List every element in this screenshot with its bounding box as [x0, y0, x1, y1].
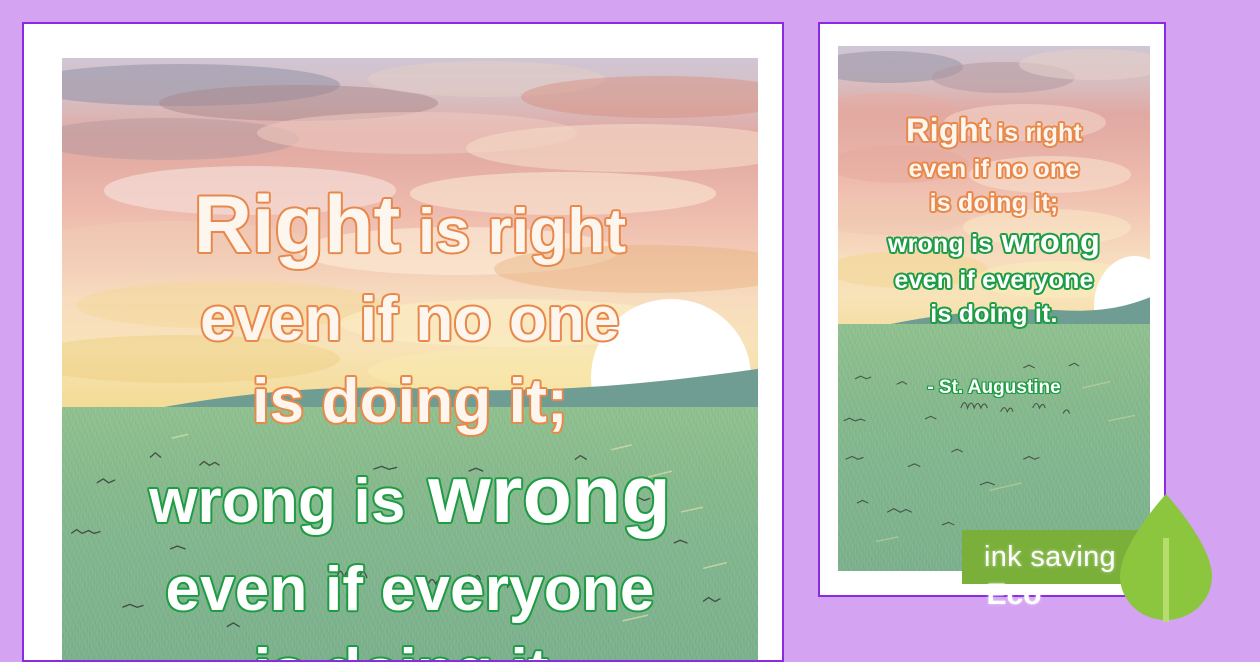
quote-word: even if everyone	[894, 266, 1093, 294]
quote-word: wrong is	[149, 467, 406, 536]
quote-word: wrong	[992, 223, 1100, 259]
poster-artwork-large: Right is righteven if no oneis doing it;…	[62, 58, 758, 660]
quote-line: even if no one	[62, 279, 758, 361]
quote-word: Right	[194, 180, 401, 270]
quote-line: even if everyone	[838, 264, 1150, 298]
poster-card-large[interactable]: Right is righteven if no oneis doing it;…	[22, 22, 784, 662]
eco-label: Eco	[962, 578, 1066, 612]
quote-word: is doing it;	[252, 367, 568, 436]
quote-line: even if no one	[838, 153, 1150, 187]
quote-line: is doing it;	[62, 361, 758, 443]
quote-word: is right	[990, 119, 1082, 147]
quote-text-large: Right is righteven if no oneis doing it;…	[62, 172, 758, 660]
quote-word: even if everyone	[165, 555, 654, 624]
ink-saving-label: ink saving	[984, 530, 1116, 584]
quote-word: is doing it;	[930, 189, 1059, 217]
quote-word: is doing it.	[254, 637, 566, 660]
quote-word: Right	[906, 112, 990, 148]
quote-word: even if no one	[200, 285, 620, 354]
quote-word: wrong	[406, 450, 671, 540]
quote-text-small: Right is righteven if no oneis doing it;…	[838, 109, 1150, 332]
quote-word: is doing it.	[930, 300, 1057, 328]
attribution-text: - St. Augustine	[838, 377, 1150, 399]
quote-line: wrong is wrong	[62, 442, 758, 548]
quote-word: even if no one	[909, 155, 1080, 183]
quote-line: Right is right	[838, 109, 1150, 153]
quote-line: is doing it.	[838, 298, 1150, 332]
quote-word: wrong is	[888, 230, 992, 258]
quote-line: even if everyone	[62, 549, 758, 631]
quote-line: Right is right	[62, 172, 758, 278]
poster-artwork-small: Right is righteven if no oneis doing it;…	[838, 46, 1150, 571]
quote-line: is doing it.	[62, 631, 758, 660]
ink-saving-eco-badge[interactable]: ink saving Eco	[962, 530, 1218, 584]
quote-line: is doing it;	[838, 187, 1150, 221]
quote-line: wrong is wrong	[838, 220, 1150, 264]
leaf-icon	[1114, 492, 1218, 622]
quote-word: is right	[401, 197, 627, 266]
